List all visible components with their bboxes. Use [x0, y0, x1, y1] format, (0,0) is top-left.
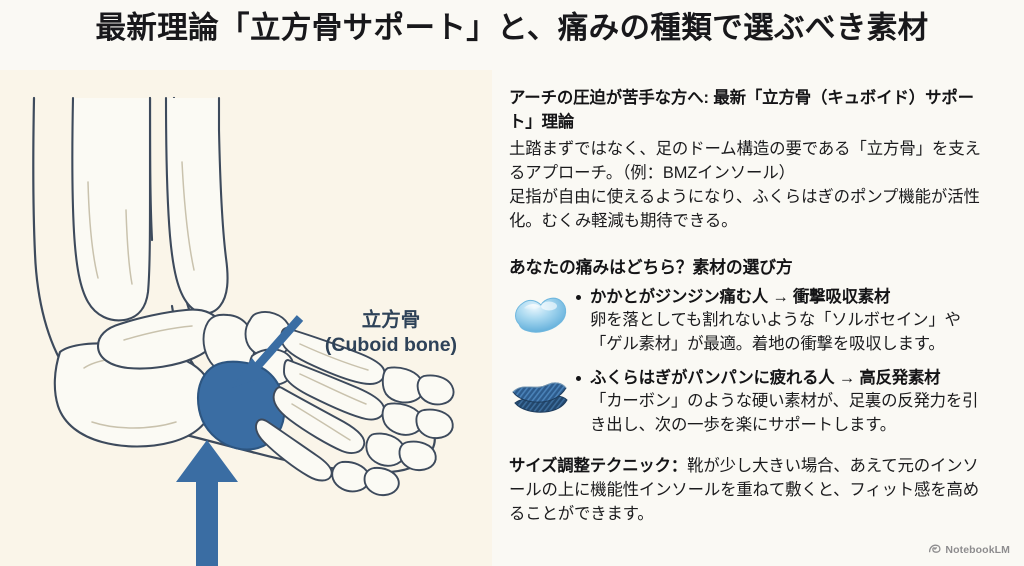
notebooklm-watermark: NotebookLM — [928, 543, 1010, 556]
notebooklm-logo-icon — [928, 543, 941, 556]
bullet-text: かかとがジンジン痛む人 → 衝撃吸収素材 卵を落としても割れないような「ソルボセ… — [575, 286, 983, 357]
slide-title-bar: 最新理論「立方骨サポート」と、痛みの種類で選ぶべき素材 — [0, 10, 1024, 47]
bullet-heading-text: かかとがジンジン痛む人 → 衝撃吸収素材 — [590, 288, 890, 306]
lead-heading: アーチの圧迫が苦手な方へ: 最新「立方骨（キュボイド）サポート」理論 — [509, 86, 983, 135]
bullet-description: 「カーボン」のような硬い素材が、足裏の反発力を引き出し、次の一歩を楽にサポートし… — [575, 390, 983, 438]
support-arrow-up — [176, 440, 238, 566]
bullet-description: 卵を落としても割れないような「ソルボセイン」や「ゲル素材」が最適。着地の衝撃を吸… — [575, 309, 983, 357]
carbon-sheet-icon — [509, 371, 575, 423]
bullet-heading: ふくらはぎがパンパンに疲れる人 → 高反発素材 — [575, 367, 983, 390]
bullet-text: ふくらはぎがパンパンに疲れる人 → 高反発素材 「カーボン」のような硬い素材が、… — [575, 367, 983, 438]
slide-root: 最新理論「立方骨サポート」と、痛みの種類で選ぶべき素材 .bn { fill:#… — [0, 0, 1024, 566]
watermark-label: NotebookLM — [945, 544, 1010, 556]
list-item: ふくらはぎがパンパンに疲れる人 → 高反発素材 「カーボン」のような硬い素材が、… — [509, 367, 983, 438]
bullet-dot-icon — [576, 376, 581, 381]
size-adjust-label: サイズ調整テクニック： — [509, 457, 687, 475]
section-heading-material: あなたの痛みはどちら？素材の選び方 — [509, 254, 983, 278]
lead-body-1: 土踏まずではなく、足のドーム構造の要である「立方骨」を支えるアプローチ。（例：B… — [509, 137, 983, 185]
list-item: かかとがジンジン痛む人 → 衝撃吸収素材 卵を落としても割れないような「ソルボセ… — [509, 286, 983, 357]
foot-skeleton-diagram: .bn { fill:#fbfaf4; stroke:#3d4a5c; stro… — [0, 70, 492, 566]
bullet-heading-text: ふくらはぎがパンパンに疲れる人 → 高反発素材 — [590, 369, 940, 387]
foot-illustration-panel: .bn { fill:#fbfaf4; stroke:#3d4a5c; stro… — [0, 70, 492, 566]
bullet-dot-icon — [576, 295, 581, 300]
content-column: アーチの圧迫が苦手な方へ: 最新「立方骨（キュボイド）サポート」理論 土踏まずで… — [509, 86, 983, 526]
size-adjust-paragraph: サイズ調整テクニック：靴が少し大きい場合、あえて元のインソールの上に機能性インソ… — [509, 454, 983, 526]
bullet-heading: かかとがジンジン痛む人 → 衝撃吸収素材 — [575, 286, 983, 309]
gel-blob-icon — [509, 290, 575, 342]
page-title: 最新理論「立方骨サポート」と、痛みの種類で選ぶべき素材 — [0, 10, 1024, 47]
lead-body-2: 足指が自由に使えるようになり、ふくらはぎのポンプ機能が活性化。むくみ軽減も期待で… — [509, 185, 983, 233]
